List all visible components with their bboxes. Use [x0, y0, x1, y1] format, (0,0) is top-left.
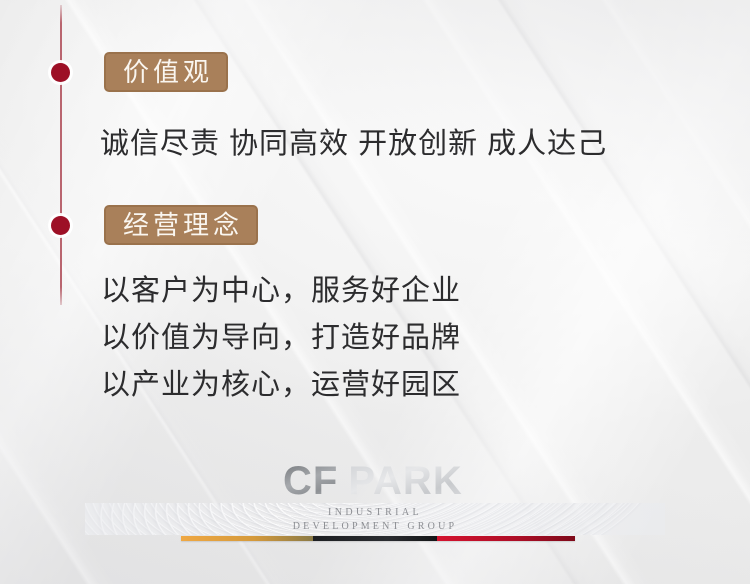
timeline-dot-philosophy [51, 216, 70, 235]
philosophy-line-3: 以产业为核心，运营好园区 [101, 362, 461, 409]
brand-accent-bar [181, 536, 575, 541]
timeline-dot-values [51, 63, 70, 82]
accent-bar-segment-red [437, 536, 575, 541]
philosophy-line-1: 以客户为中心，服务好企业 [101, 268, 461, 315]
brand-tagline-line-2: DEVELOPMENT GROUP [0, 520, 750, 534]
section-badge-philosophy: 经营理念 [104, 205, 258, 245]
slide-canvas: 价值观 诚信尽责 协同高效 开放创新 成人达己 经营理念 以客户为中心，服务好企… [0, 0, 750, 584]
brand-tagline-line-1: INDUSTRIAL [0, 506, 750, 520]
brand-logo-cf: CF [283, 459, 338, 503]
brand-logo-park: PARK [348, 459, 462, 503]
brand-tagline: INDUSTRIAL DEVELOPMENT GROUP [0, 506, 750, 534]
philosophy-statement-group: 以客户为中心，服务好企业 以价值为导向，打造好品牌 以产业为核心，运营好园区 [101, 268, 461, 409]
brand-logo: CFPARK [283, 461, 463, 501]
accent-bar-segment-dark [313, 536, 437, 541]
values-statement: 诚信尽责 协同高效 开放创新 成人达己 [100, 120, 607, 162]
section-badge-values: 价值观 [104, 52, 228, 92]
timeline-rail [60, 5, 62, 305]
accent-bar-segment-gold [181, 536, 313, 541]
philosophy-line-2: 以价值为导向，打造好品牌 [101, 315, 461, 362]
